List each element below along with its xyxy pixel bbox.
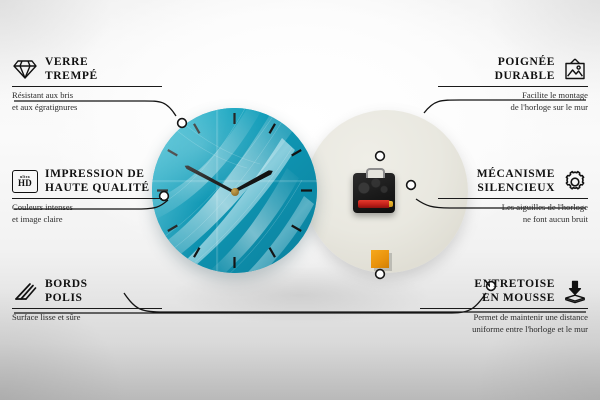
feature-description: Surface lisse et sûre xyxy=(12,312,162,324)
feature-description: Les aiguilles de l'horloge ne font aucun… xyxy=(438,202,588,225)
feature-title: ENTRETOISE EN MOUSSE xyxy=(474,278,555,305)
feature-divider xyxy=(420,308,588,309)
feature-entretoise-en-mousse: ENTRETOISE EN MOUSSE Permet de maintenir… xyxy=(420,278,588,335)
feature-description: Couleurs intenses et image claire xyxy=(12,202,162,225)
feature-divider xyxy=(12,86,162,87)
feature-divider xyxy=(438,86,588,87)
gear-icon xyxy=(562,170,588,194)
feature-header: VERRE TREMPÉ xyxy=(12,56,162,83)
feature-divider xyxy=(12,198,162,199)
feature-divider xyxy=(12,308,162,309)
feature-title: VERRE TREMPÉ xyxy=(45,56,98,83)
callout-dot-mecanisme xyxy=(407,181,416,190)
feature-header: MÉCANISME SILENCIEUX xyxy=(438,168,588,195)
feature-title: MÉCANISME SILENCIEUX xyxy=(477,168,555,195)
ultra-hd-icon: ultra HD xyxy=(12,170,38,194)
feature-header: ENTRETOISE EN MOUSSE xyxy=(420,278,588,305)
callout-dot-poignee xyxy=(376,152,385,161)
feature-title: POIGNÉE DURABLE xyxy=(495,56,555,83)
feature-description: Facilite le montage de l'horloge sur le … xyxy=(438,90,588,113)
feature-description: Résistant aux bris et aux égratignures xyxy=(12,90,162,113)
ultra-hd-icon-main-text: HD xyxy=(18,179,32,188)
callout-dot-entretoise xyxy=(376,270,385,279)
foam-spacer-icon xyxy=(562,280,588,304)
callout-dot-verre-trempe xyxy=(178,119,187,128)
feature-divider xyxy=(438,198,588,199)
feature-description: Permet de maintenir une distance uniform… xyxy=(420,312,588,335)
feature-mecanisme-silencieux: MÉCANISME SILENCIEUX Les aiguilles de l'… xyxy=(438,168,588,225)
feature-header: BORDS POLIS xyxy=(12,278,162,305)
feature-verre-trempe: VERRE TREMPÉ Résistant aux bris et aux é… xyxy=(12,56,162,113)
feature-title: IMPRESSION DE HAUTE QUALITÉ xyxy=(45,168,150,195)
feature-title: BORDS POLIS xyxy=(45,278,88,305)
picture-hanger-icon xyxy=(562,58,588,82)
feature-bords-polis: BORDS POLIS Surface lisse et sûre xyxy=(12,278,162,324)
feature-header: POIGNÉE DURABLE xyxy=(438,56,588,83)
polished-edges-icon xyxy=(12,280,38,304)
feature-poignee-durable: POIGNÉE DURABLE Facilite le montage de l… xyxy=(438,56,588,113)
infographic-canvas: VERRE TREMPÉ Résistant aux bris et aux é… xyxy=(0,0,600,400)
feature-header: ultra HD IMPRESSION DE HAUTE QUALITÉ xyxy=(12,168,162,195)
feature-impression-haute-qualite: ultra HD IMPRESSION DE HAUTE QUALITÉ Cou… xyxy=(12,168,162,225)
diamond-icon xyxy=(12,58,38,82)
